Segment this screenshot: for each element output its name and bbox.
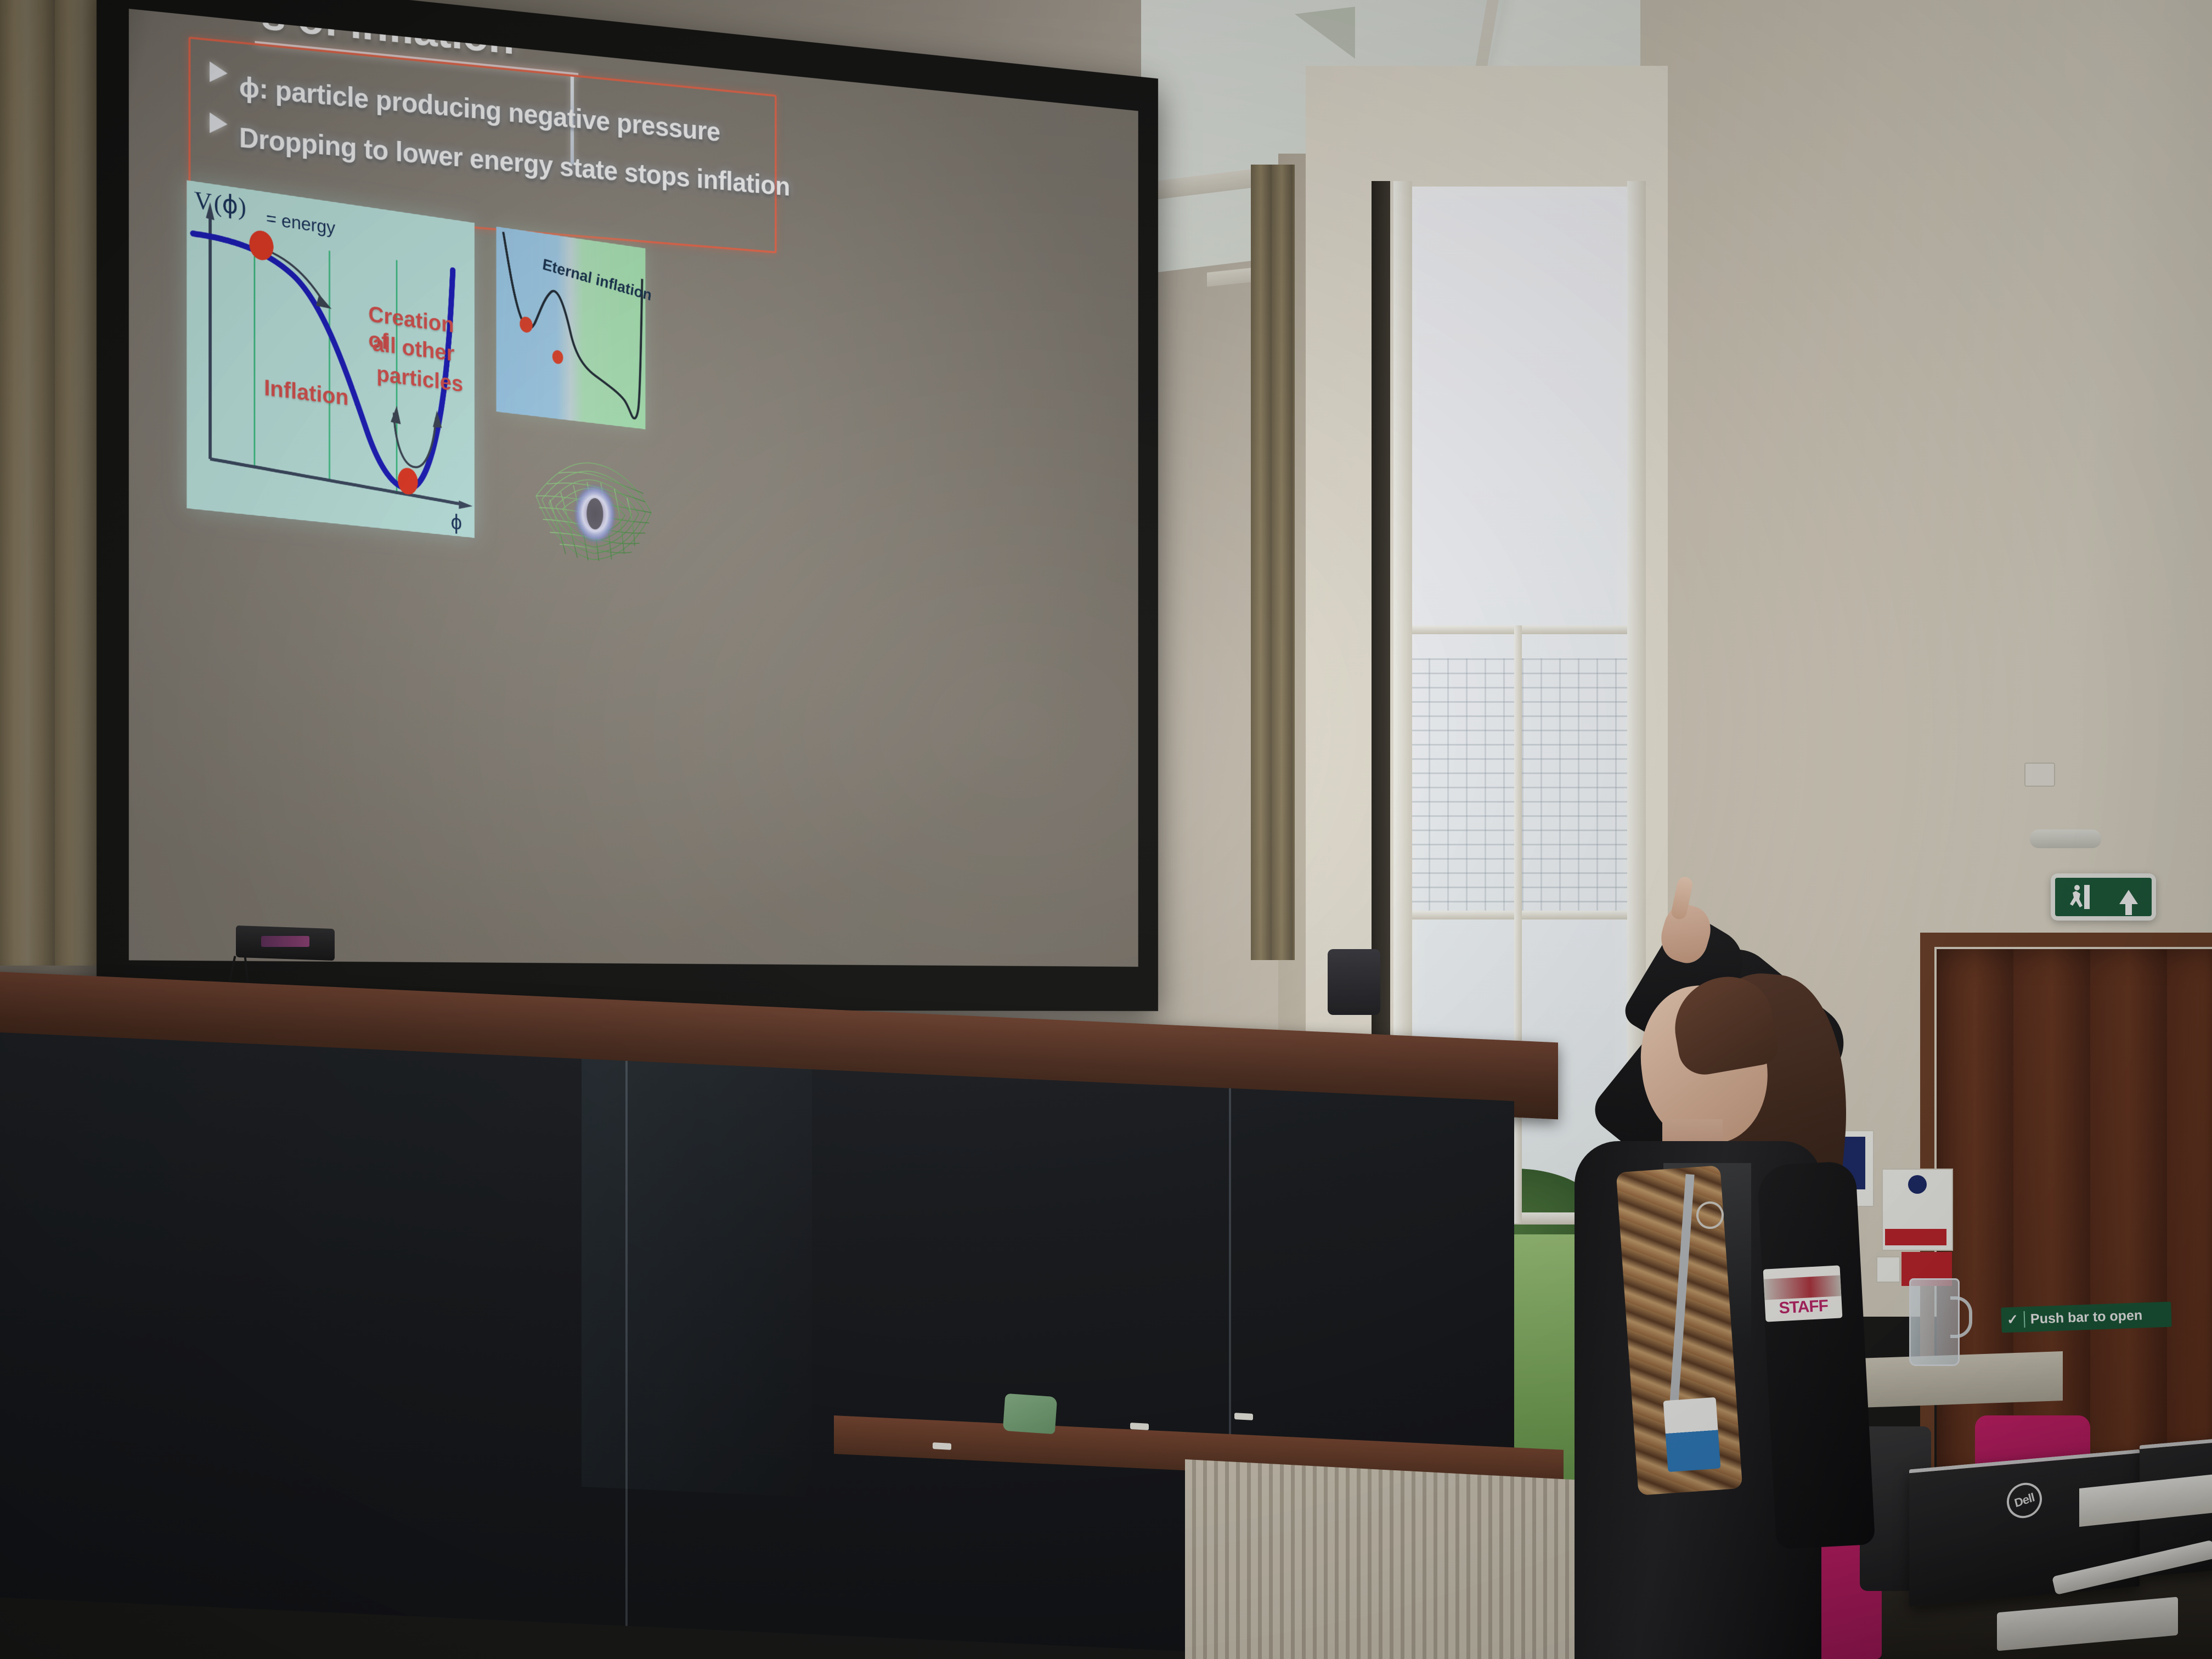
check-mark-icon: ✓ (2007, 1311, 2019, 1328)
chart-eternal-inflation-svg (496, 227, 646, 430)
chevron-right-icon (210, 61, 228, 84)
up-arrow-icon (2119, 890, 2138, 904)
chalk-piece (1234, 1413, 1253, 1420)
blackboard-seam (625, 1061, 628, 1626)
lecture-hall-scene: s of inflation ϕ: particle producing neg… (0, 0, 2212, 1659)
x-axis-arrowhead (459, 500, 472, 510)
chevron-right-icon (210, 112, 228, 134)
projection-screen-surface: s of inflation ϕ: particle producing neg… (129, 9, 1138, 967)
dell-logo-icon: Dell (2003, 1478, 2046, 1523)
presenter-id-card (1663, 1397, 1721, 1472)
projector-indicator-light (261, 936, 309, 947)
staff-badge-graphic (1764, 1275, 1842, 1300)
curtain-left (0, 0, 110, 966)
ball-in-minimum (398, 467, 418, 495)
water-jug[interactable] (1909, 1278, 1960, 1366)
chalk-piece (1130, 1423, 1149, 1430)
info-circle-icon (1908, 1175, 1927, 1194)
board-eraser-cloth[interactable] (1003, 1393, 1058, 1434)
running-man-icon (2069, 883, 2091, 911)
fire-exit-sign (2051, 873, 2156, 921)
staff-badge-label: STAFF (1779, 1297, 1829, 1318)
emergency-light-fitting (2030, 830, 2101, 848)
curtain-right (1251, 165, 1295, 960)
chart-inflaton-potential: V (ϕ) = energy ϕ Inflation Creation of a… (187, 180, 475, 538)
blackboard-reflection (582, 1059, 812, 1497)
ball-false-vacuum (520, 316, 533, 334)
ball-on-plateau (249, 229, 273, 262)
ball-rolling-down (552, 349, 563, 364)
wall-socket[interactable] (2024, 763, 2055, 787)
chart-eternal-inflation: Eternal inflation (496, 227, 646, 430)
push-bar-sign-label: Push bar to open (2030, 1307, 2143, 1327)
chalk-piece (933, 1442, 951, 1450)
x-axis-label: ϕ (451, 510, 462, 535)
staff-badge: STAFF (1763, 1265, 1843, 1322)
presenter-right-arm (1757, 1161, 1875, 1549)
fire-exit-sign-inner (2055, 878, 2152, 916)
projection-screen-frame: s of inflation ϕ: particle producing neg… (97, 0, 1158, 1011)
spacetime-mesh-figure (530, 448, 657, 575)
presenter: STAFF (1481, 927, 1909, 1659)
sign-divider (2023, 1311, 2025, 1328)
oscillation-arrow-head-left (391, 405, 400, 424)
camera-pod (1328, 949, 1380, 1015)
potential-curve (193, 234, 453, 494)
ceiling-triangle-recess (1295, 7, 1355, 66)
